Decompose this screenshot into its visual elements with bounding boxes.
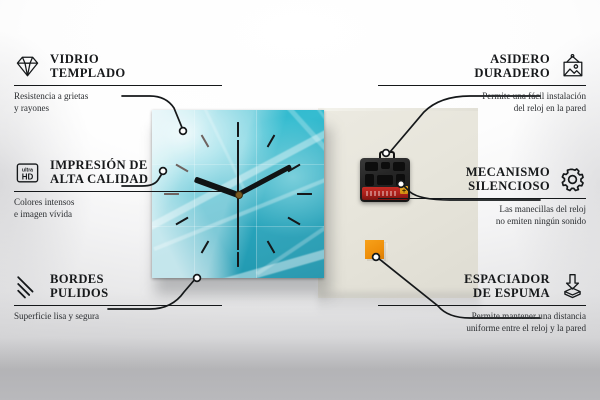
- wire-endpoint-espaciador: [373, 254, 380, 261]
- feature-title: IMPRESIÓN DEALTA CALIDAD: [50, 158, 148, 187]
- feature-underline: [14, 191, 222, 192]
- wire-endpoint-vidrio: [180, 128, 187, 135]
- feature-description: Permite mantener una distanciauniforme e…: [378, 311, 586, 334]
- feature-title: ASIDERODURADERO: [474, 52, 550, 81]
- feature-title: BORDESPULIDOS: [50, 272, 108, 301]
- feature-underline: [14, 85, 222, 86]
- svg-text:HD: HD: [22, 173, 34, 182]
- diamond-icon: [14, 53, 41, 80]
- feature-description: Permite una fácil instalacióndel reloj e…: [378, 91, 586, 114]
- feature-title: VIDRIOTEMPLADO: [50, 52, 126, 81]
- feature-title: MECANISMOSILENCIOSO: [466, 165, 550, 194]
- wire-endpoint-asidero: [383, 150, 390, 157]
- feature-underline: [14, 305, 222, 306]
- feature-underline: [378, 85, 586, 86]
- feature-asidero-duradero: ASIDERODURADERO Permite una fácil instal…: [378, 52, 586, 114]
- press-down-pad-icon: [559, 273, 586, 300]
- hanging-frame-icon: [559, 53, 586, 80]
- feature-bordes-pulidos: BORDESPULIDOS Superficie lisa y segura: [14, 272, 222, 323]
- feature-impresion-alta-calidad: ultra HD IMPRESIÓN DEALTA CALIDAD Colore…: [14, 158, 222, 220]
- infographic-canvas: +: [0, 0, 600, 400]
- feature-vidrio-templado: VIDRIOTEMPLADO Resistencia a grietasy ra…: [14, 52, 222, 114]
- feature-underline: [378, 305, 586, 306]
- feature-title: ESPACIADORDE ESPUMA: [464, 272, 550, 301]
- ultra-hd-badge-icon: ultra HD: [14, 159, 41, 186]
- feature-description: Las manecillas del relojno emiten ningún…: [378, 204, 586, 227]
- gear-icon: [559, 166, 586, 193]
- feature-mecanismo-silencioso: MECANISMOSILENCIOSO Las manecillas del r…: [378, 165, 586, 227]
- feature-description: Resistencia a grietasy rayones: [14, 91, 222, 114]
- feature-espaciador-de-espuma: ESPACIADORDE ESPUMA Permite mantener una…: [378, 272, 586, 334]
- feature-underline: [378, 198, 586, 199]
- polished-edges-icon: [14, 273, 41, 300]
- feature-description: Superficie lisa y segura: [14, 311, 222, 322]
- feature-description: Colores intensose imagen vívida: [14, 197, 222, 220]
